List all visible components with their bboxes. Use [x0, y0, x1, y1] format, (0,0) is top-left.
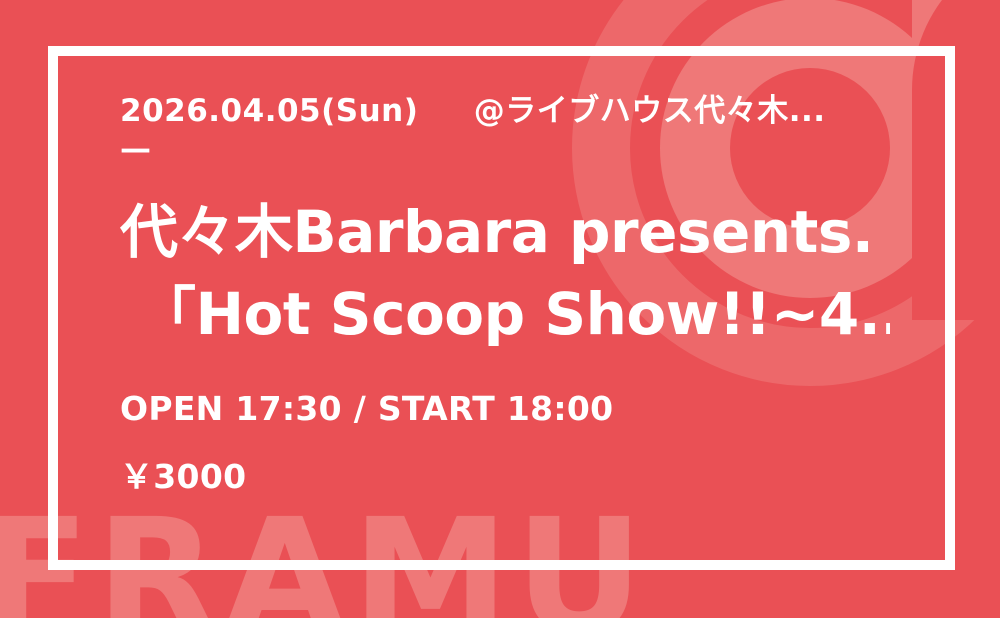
event-title-line-1: 代々木Barbara presents.	[120, 191, 890, 273]
event-venue: @ライブハウス代々木...	[474, 93, 826, 129]
event-title-line-2: 「Hot Scoop Show!!~4...	[120, 273, 890, 355]
event-date: 2026.04.05(Sun)	[120, 93, 418, 129]
event-details: 2026.04.05(Sun) @ライブハウス代々木... — 代々木Barba…	[120, 92, 890, 498]
page-title: 代々木Barbara presents. 「Hot Scoop Show!!~4…	[120, 191, 890, 356]
event-flyer: FRAMU 2026.04.05(Sun) @ライブハウス代々木... — 代々…	[0, 0, 1000, 618]
event-price: ￥3000	[120, 450, 890, 498]
event-times: OPEN 17:30 / START 18:00	[120, 389, 890, 428]
event-meta-line: 2026.04.05(Sun) @ライブハウス代々木...	[120, 92, 890, 132]
meta-separator-dash: —	[120, 134, 890, 165]
